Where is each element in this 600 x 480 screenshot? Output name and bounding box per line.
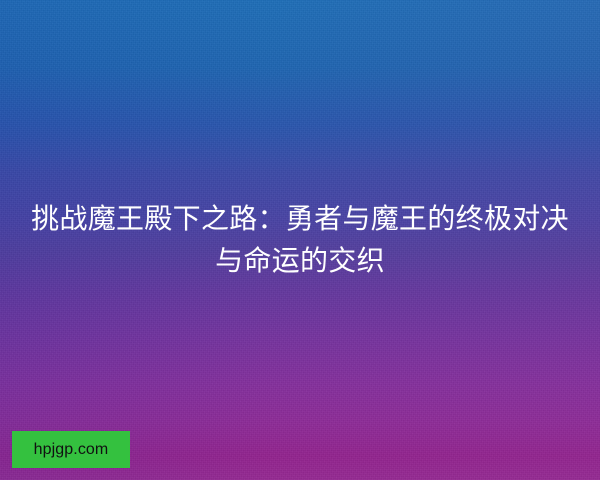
page-title: 挑战魔王殿下之路：勇者与魔王的终极对决与命运的交织	[24, 198, 576, 282]
title-block: 挑战魔王殿下之路：勇者与魔王的终极对决与命运的交织	[0, 0, 600, 480]
watermark-label: hpjgp.com	[34, 442, 109, 458]
banner-image: 挑战魔王殿下之路：勇者与魔王的终极对决与命运的交织 hpjgp.com	[0, 0, 600, 480]
watermark-badge: hpjgp.com	[12, 431, 130, 468]
